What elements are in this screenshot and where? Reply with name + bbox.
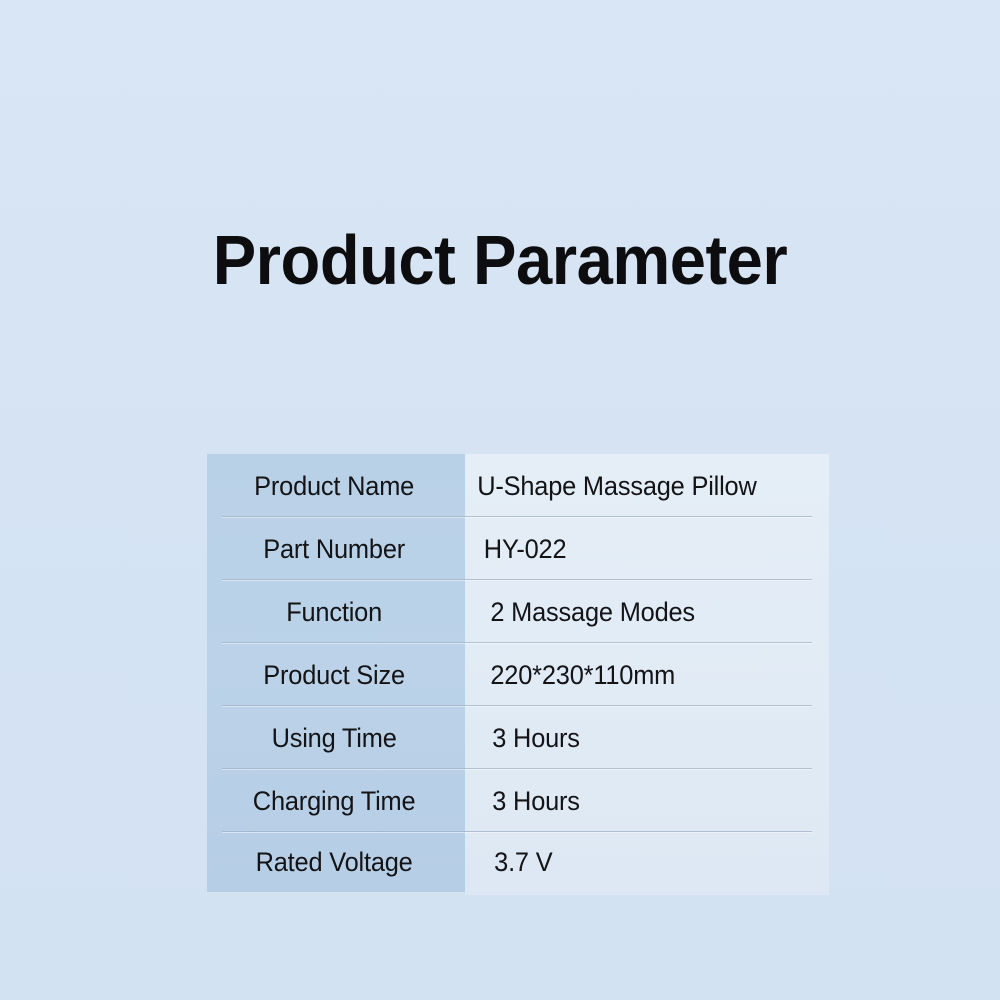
spec-label: Function (215, 597, 458, 627)
spec-value: 3 Hours (465, 786, 807, 816)
spec-value: 3 Hours (465, 723, 807, 753)
spec-value: U-Shape Massage Pillow (465, 471, 807, 501)
table-row: Rated Voltage 3.7 V (207, 832, 829, 892)
product-parameter-page: Product Parameter Product Name U-Shape M… (0, 0, 1000, 1000)
page-title: Product Parameter (35, 222, 965, 298)
table-row: Using Time 3 Hours (207, 706, 829, 769)
product-specification-table: Product Name U-Shape Massage Pillow Part… (207, 454, 829, 896)
table-row: Charging Time 3 Hours (207, 769, 829, 832)
table-rows: Product Name U-Shape Massage Pillow Part… (207, 454, 829, 895)
table-row: Product Name U-Shape Massage Pillow (207, 454, 829, 517)
spec-label: Using Time (215, 723, 458, 753)
spec-value: 220*230*110mm (465, 660, 807, 690)
spec-label: Charging Time (215, 786, 458, 816)
table-row: Product Size 220*230*110mm (207, 643, 829, 706)
spec-value: 3.7 V (465, 847, 807, 877)
spec-label: Part Number (215, 534, 458, 564)
spec-value: HY-022 (465, 534, 807, 564)
table-row: Part Number HY-022 (207, 517, 829, 580)
spec-value: 2 Massage Modes (465, 597, 807, 627)
spec-label: Rated Voltage (215, 847, 458, 877)
table-row: Function 2 Massage Modes (207, 580, 829, 643)
spec-label: Product Name (215, 471, 458, 501)
spec-label: Product Size (215, 660, 458, 690)
